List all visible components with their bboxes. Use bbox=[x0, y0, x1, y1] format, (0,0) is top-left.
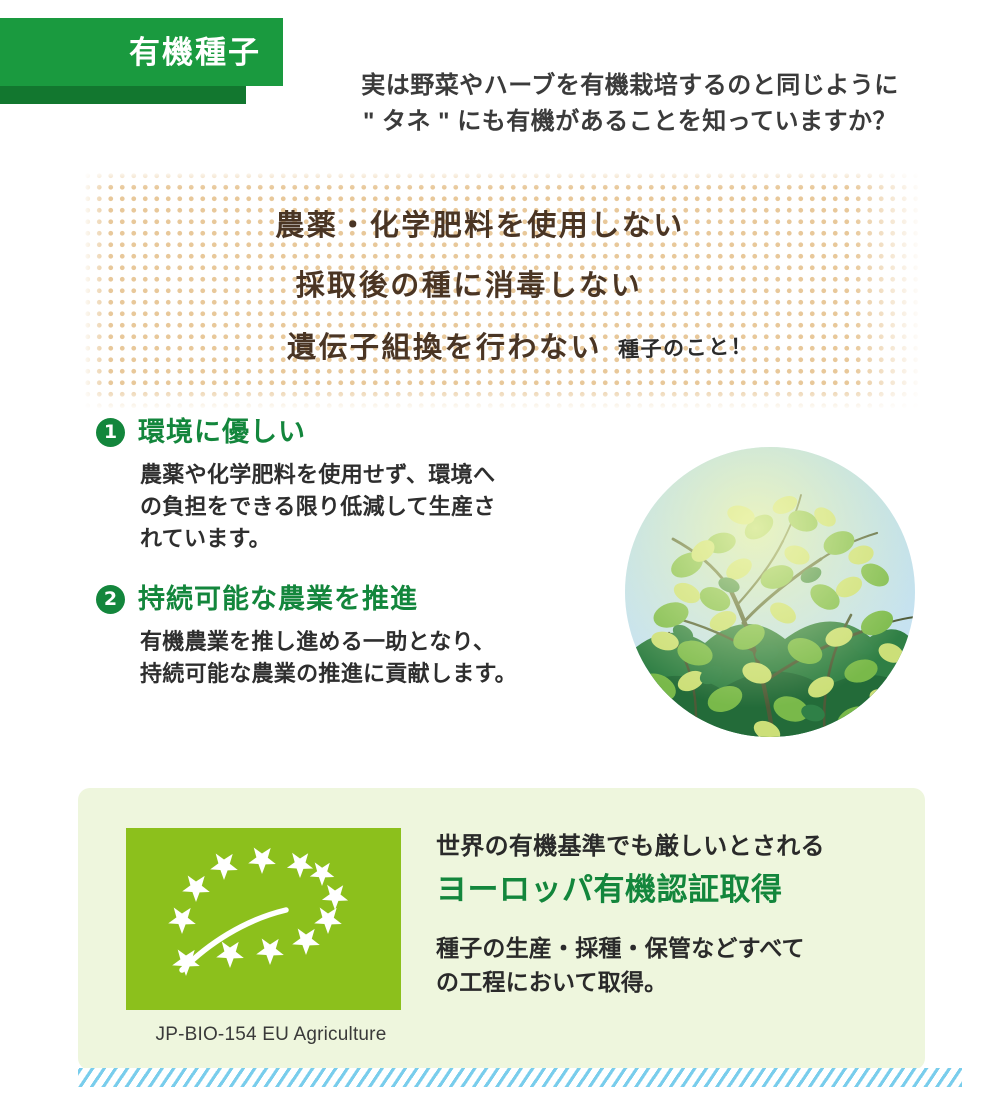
statement-tail: 種子のこと！ bbox=[618, 330, 754, 364]
feature-2-body-line-1: 有機農業を推し進める一助となり、 bbox=[140, 626, 636, 658]
eu-logo-block: JP-BIO-154 EU Agriculture bbox=[126, 828, 416, 1046]
feature-2-body: 有機農業を推し進める一助となり、 持続可能な農業の推進に貢献します。 bbox=[140, 626, 636, 690]
feature-item-2: 2 持続可能な農業を推進 有機農業を推し進める一助となり、 持続可能な農業の推進… bbox=[96, 585, 636, 690]
statement-2: 採取後の種に消毒しない bbox=[82, 272, 922, 301]
certification-lead: 世界の有機基準でも厳しいとされる bbox=[436, 832, 896, 862]
feature-2-title: 持続可能な農業を推進 bbox=[138, 586, 418, 613]
feature-2-number-badge: 2 bbox=[96, 585, 125, 614]
certification-body: 種子の生産・採種・保管などすべて の工程において取得。 bbox=[436, 932, 896, 999]
certification-body-line-2: の工程において取得。 bbox=[436, 966, 896, 999]
header-ribbon: 有機種子 bbox=[0, 16, 300, 108]
feature-1-body: 農薬や化学肥料を使用せず、環境へ の負担をできる限り低減して生産さ れています。 bbox=[140, 459, 636, 555]
feature-2-body-line-2: 持続可能な農業の推進に貢献します。 bbox=[140, 658, 636, 690]
organic-seed-infographic: 有機種子 実は野菜やハーブを有機栽培するのと同じように " タネ " にも有機が… bbox=[0, 0, 1000, 1120]
statement-3: 遺伝子組換を行わない bbox=[287, 334, 602, 363]
intro-paragraph: 実は野菜やハーブを有機栽培するのと同じように " タネ " にも有機があることを… bbox=[300, 68, 960, 140]
statement-1: 農薬・化学肥料を使用しない bbox=[82, 212, 922, 241]
intro-line-2: " タネ " にも有機があることを知っていますか？ bbox=[300, 104, 960, 140]
feature-1-number-badge: 1 bbox=[96, 418, 125, 447]
leaf-photo bbox=[625, 447, 915, 737]
feature-1-header: 1 環境に優しい bbox=[96, 418, 636, 447]
certification-text: 世界の有機基準でも厳しいとされる ヨーロッパ有機認証取得 種子の生産・採種・保管… bbox=[436, 832, 896, 999]
feature-2-header: 2 持続可能な農業を推進 bbox=[96, 585, 636, 614]
feature-1-title: 環境に優しい bbox=[138, 419, 306, 446]
bottom-stripe-band bbox=[78, 1068, 962, 1087]
feature-item-1: 1 環境に優しい 農薬や化学肥料を使用せず、環境へ の負担をできる限り低減して生… bbox=[96, 418, 636, 555]
certification-panel: JP-BIO-154 EU Agriculture 世界の有機基準でも厳しいとさ… bbox=[78, 788, 925, 1070]
feature-list: 1 環境に優しい 農薬や化学肥料を使用せず、環境へ の負担をできる限り低減して生… bbox=[96, 418, 636, 689]
feature-1-body-line-2: の負担をできる限り低減して生産さ bbox=[140, 491, 636, 523]
definition-statements: 農薬・化学肥料を使用しない 採取後の種に消毒しない 遺伝子組換を行わない 種子の… bbox=[82, 170, 922, 410]
feature-1-body-line-1: 農薬や化学肥料を使用せず、環境へ bbox=[140, 459, 636, 491]
certification-headline: ヨーロッパ有機認証取得 bbox=[436, 871, 896, 908]
intro-line-1: 実は野菜やハーブを有機栽培するのと同じように bbox=[300, 68, 960, 104]
eu-logo-caption: JP-BIO-154 EU Agriculture bbox=[126, 1024, 416, 1046]
eu-organic-leaf-icon bbox=[126, 828, 401, 1010]
statement-3-row: 遺伝子組換を行わない 種子のこと！ bbox=[82, 332, 922, 363]
certification-body-line-1: 種子の生産・採種・保管などすべて bbox=[436, 932, 896, 965]
page-title: 有機種子 bbox=[129, 37, 261, 68]
ribbon-main-band: 有機種子 bbox=[0, 18, 283, 86]
feature-1-body-line-3: れています。 bbox=[140, 523, 636, 555]
